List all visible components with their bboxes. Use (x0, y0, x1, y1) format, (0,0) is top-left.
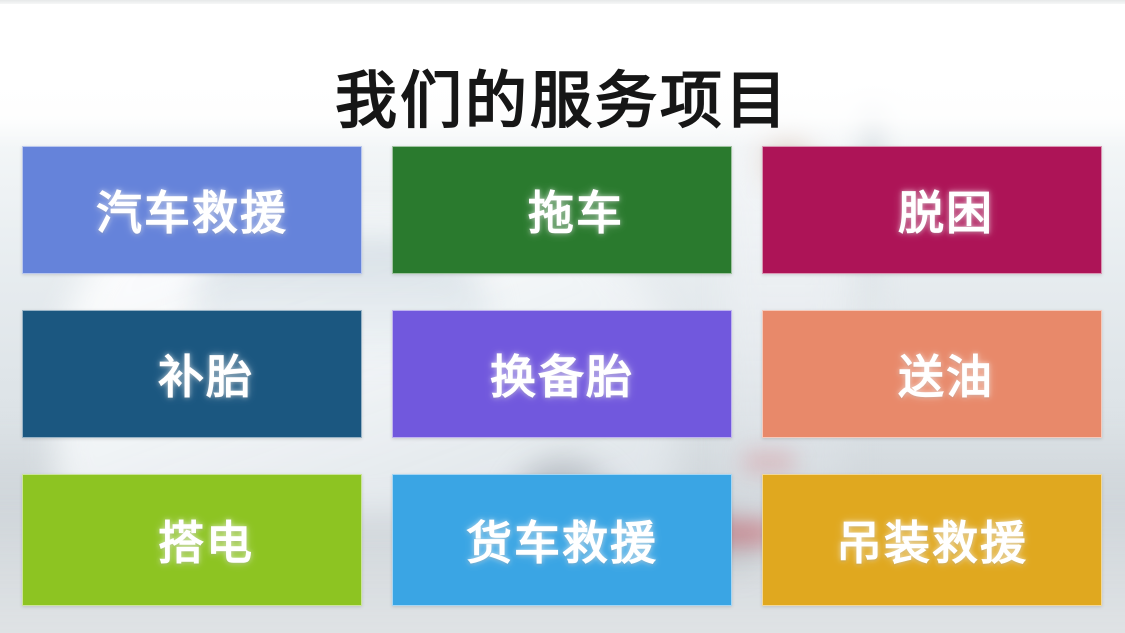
service-tile-label: 脱困 (898, 177, 994, 243)
service-tile-label: 吊装救援 (836, 507, 1028, 573)
service-poster: 我们的服务项目 汽车救援 拖车 脱困 补胎 换备胎 送油 搭电 (0, 0, 1125, 633)
service-tile-jump-start[interactable]: 搭电 (22, 474, 362, 606)
service-tile-fuel-delivery[interactable]: 送油 (762, 310, 1102, 438)
service-tile-label: 换备胎 (490, 341, 634, 407)
service-tile-label: 拖车 (528, 177, 624, 243)
service-tile-extrication[interactable]: 脱困 (762, 146, 1102, 274)
service-tile-label: 搭电 (158, 507, 254, 573)
service-tile-label: 送油 (898, 341, 994, 407)
service-tile-label: 货车救援 (466, 507, 658, 573)
service-tile-label: 汽车救援 (96, 177, 288, 243)
poster-content: 我们的服务项目 汽车救援 拖车 脱困 补胎 换备胎 送油 搭电 (0, 0, 1125, 633)
service-tile-spare-tire-change[interactable]: 换备胎 (392, 310, 732, 438)
service-tile-tire-repair[interactable]: 补胎 (22, 310, 362, 438)
service-tile-crane-hoist-rescue[interactable]: 吊装救援 (762, 474, 1102, 606)
service-tile-grid: 汽车救援 拖车 脱困 补胎 换备胎 送油 搭电 货车救援 (22, 146, 1103, 602)
service-tile-truck-rescue[interactable]: 货车救援 (392, 474, 732, 606)
page-title: 我们的服务项目 (0, 63, 1125, 141)
service-tile-car-rescue[interactable]: 汽车救援 (22, 146, 362, 274)
service-tile-label: 补胎 (158, 341, 254, 407)
service-tile-tow-truck[interactable]: 拖车 (392, 146, 732, 274)
